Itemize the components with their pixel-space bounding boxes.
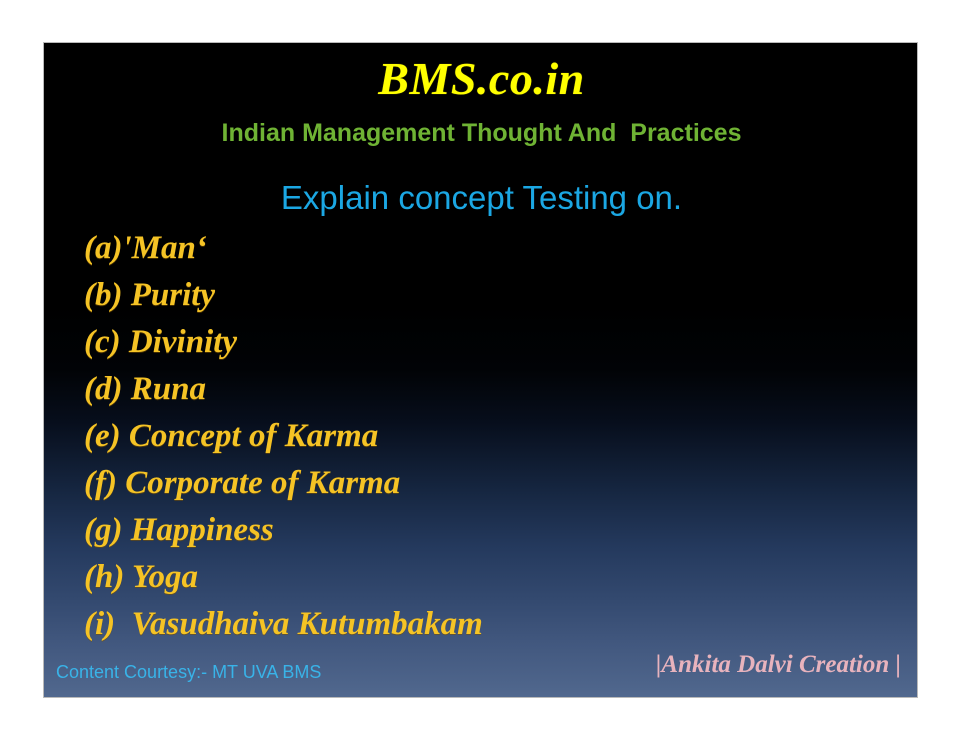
list-item: (e) Concept of Karma	[84, 413, 884, 460]
subject-title: Indian Management Thought And Practices	[44, 120, 918, 148]
list-item: (f) Corporate of Karma	[84, 460, 884, 507]
options-list: (a)'Man‘ (b) Purity (c) Divinity (d) Run…	[84, 225, 884, 648]
question-title: Explain concept Testing on.	[44, 180, 918, 216]
content-courtesy-note: Content Courtesy:- MT UVA BMS	[56, 662, 321, 683]
creator-credit: |Ankita Dalvi Creation |	[656, 651, 901, 679]
list-item: (c) Divinity	[84, 319, 884, 366]
brand-title: BMS.co.in	[44, 55, 918, 104]
list-item: (b) Purity	[84, 272, 884, 319]
slide-canvas: BMS.co.in Indian Management Thought And …	[0, 0, 960, 741]
list-item: (g) Happiness	[84, 507, 884, 554]
list-item: (a)'Man‘	[84, 225, 884, 272]
list-item: (h) Yoga	[84, 554, 884, 601]
list-item: (d) Runa	[84, 366, 884, 413]
list-item: (i) Vasudhaiva Kutumbakam	[84, 601, 884, 648]
presentation-slide: BMS.co.in Indian Management Thought And …	[43, 42, 918, 698]
